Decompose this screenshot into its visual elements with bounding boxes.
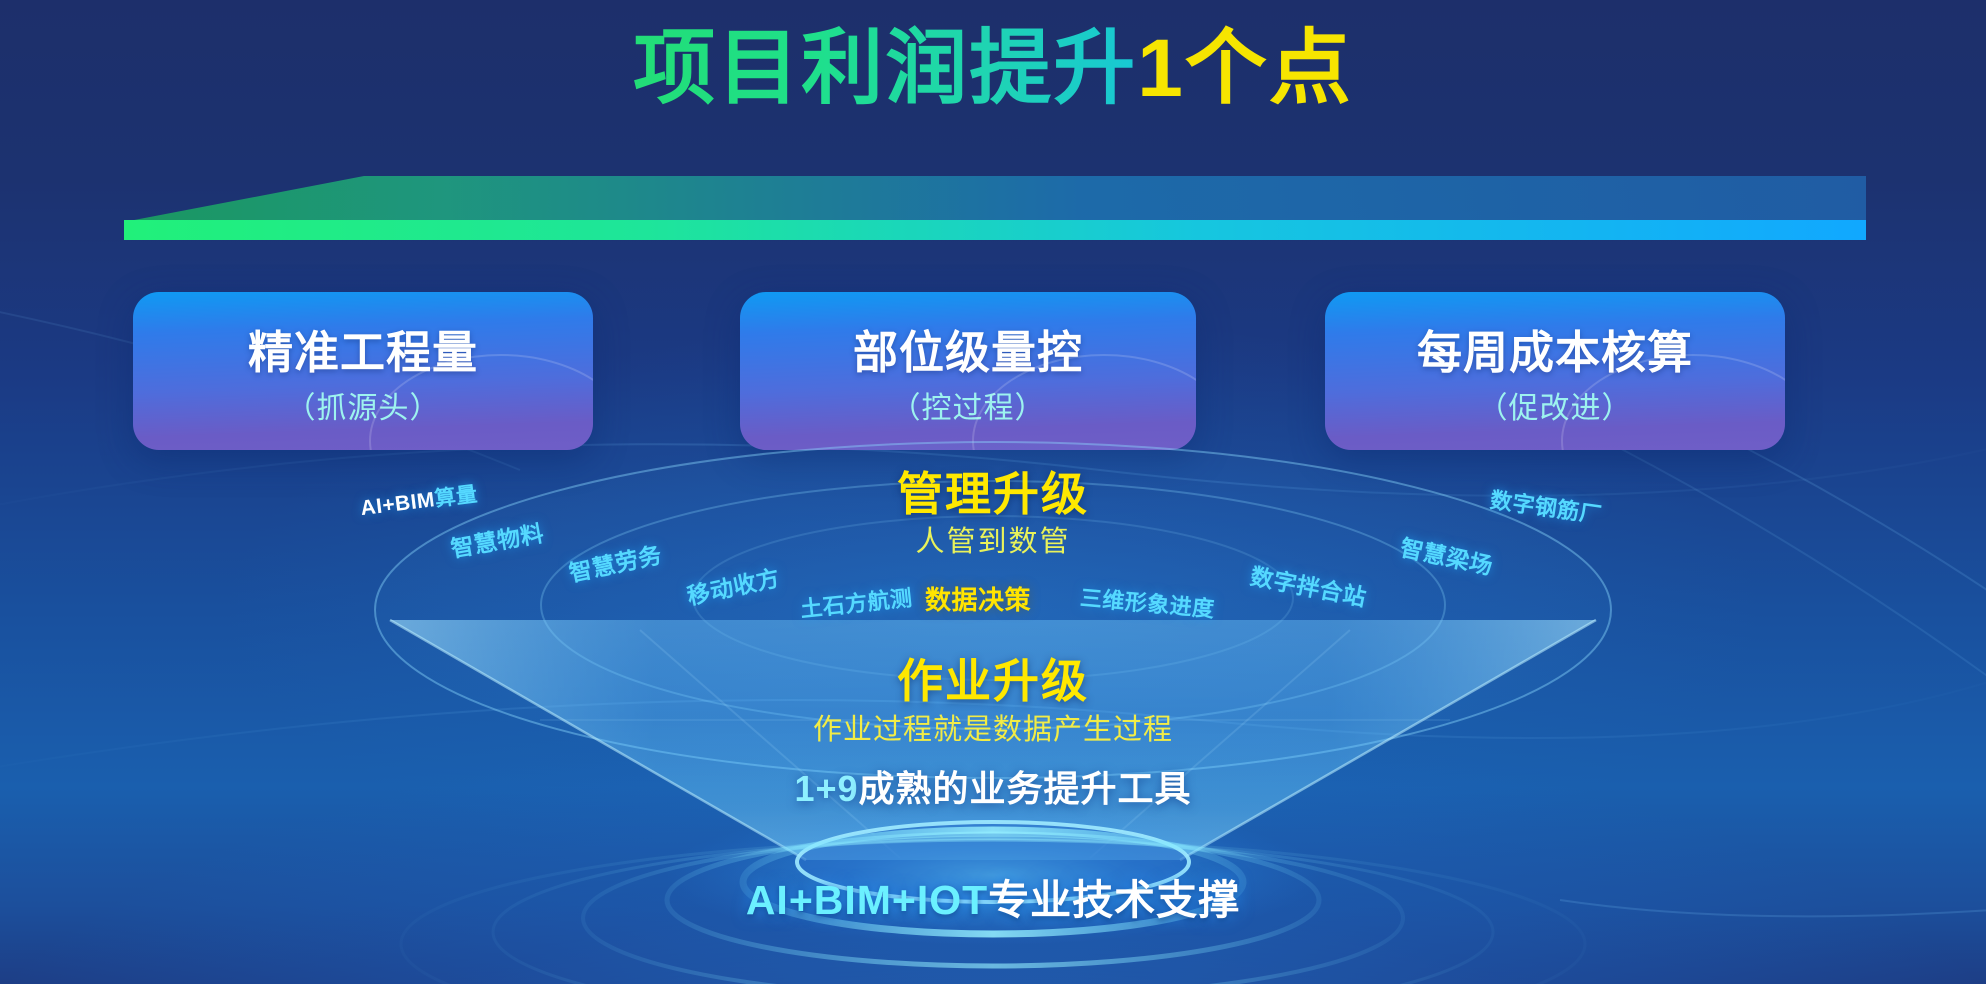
page-title-main: 项目利润提升 [633, 23, 1137, 114]
tools-count: 1+9 [794, 768, 858, 809]
page-title: 项目利润提升1个点 [0, 26, 1986, 112]
card-title: 每周成本核算 [1417, 316, 1693, 381]
management-upgrade-title: 管理升级 [0, 458, 1986, 524]
page-title-highlight: 1个点 [1137, 23, 1353, 114]
management-upgrade-subtitle: 人管到数管 [0, 518, 1986, 560]
operation-upgrade-subtitle: 作业过程就是数据产生过程 [0, 706, 1986, 748]
operation-upgrade-title: 作业升级 [0, 645, 1986, 711]
tech-support-text: 专业技术支撑 [988, 877, 1240, 923]
tool-label-shuju-juece[interactable]: 数据决策 [925, 580, 1031, 617]
tech-stack-label: AI+BIM+IOT [746, 877, 988, 923]
card-title: 部位级量控 [853, 316, 1083, 381]
tool-label-text: 数据决策 [925, 585, 1031, 615]
tools-headline-text: 成熟的业务提升工具 [859, 768, 1192, 809]
slide-canvas: 项目利润提升1个点 [0, 0, 1986, 984]
platform-bar [124, 176, 1866, 242]
tech-support-line: AI+BIM+IOT专业技术支撑 [0, 866, 1986, 926]
card-title: 精准工程量 [248, 316, 478, 381]
tools-headline: 1+9成熟的业务提升工具 [0, 760, 1986, 812]
tool-label-text: 算量 [433, 483, 478, 511]
